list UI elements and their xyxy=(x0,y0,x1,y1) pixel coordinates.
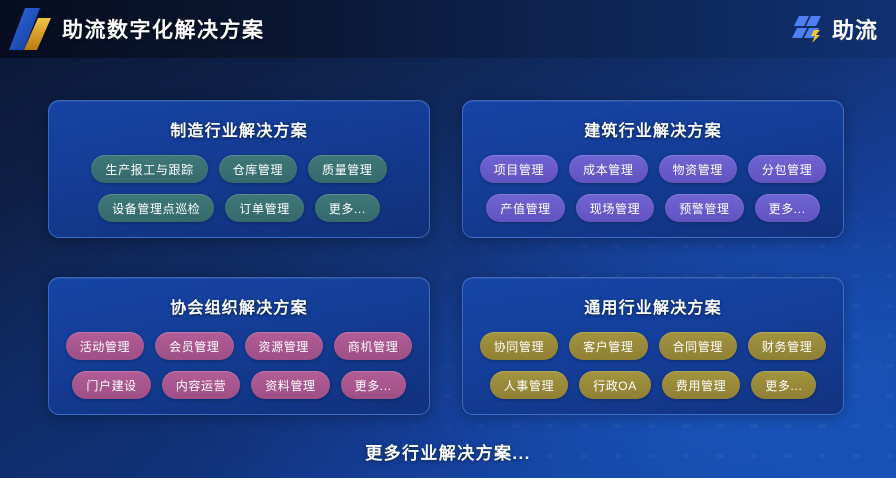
pill-item[interactable]: 会员管理 xyxy=(155,332,233,360)
pill-item[interactable]: 分包管理 xyxy=(748,155,826,183)
page-title: 助流数字化解决方案 xyxy=(62,14,265,44)
card-association[interactable]: 协会组织解决方案 活动管理 会员管理 资源管理 商机管理 门户建设 内容运营 资… xyxy=(48,277,430,415)
pill-group: 活动管理 会员管理 资源管理 商机管理 门户建设 内容运营 资料管理 更多... xyxy=(49,332,429,399)
pill-item[interactable]: 设备管理点巡检 xyxy=(98,194,214,222)
pill-group: 协同管理 客户管理 合同管理 财务管理 人事管理 行政OA 费用管理 更多... xyxy=(463,332,843,399)
pill-item[interactable]: 内容运营 xyxy=(162,371,240,399)
pill-item[interactable]: 财务管理 xyxy=(748,332,826,360)
pill-row: 人事管理 行政OA 费用管理 更多... xyxy=(477,371,829,399)
pill-item[interactable]: 费用管理 xyxy=(662,371,740,399)
pill-row: 生产报工与跟踪 仓库管理 质量管理 xyxy=(63,155,415,183)
pill-row: 项目管理 成本管理 物资管理 分包管理 xyxy=(477,155,829,183)
card-construction[interactable]: 建筑行业解决方案 项目管理 成本管理 物资管理 分包管理 产值管理 现场管理 预… xyxy=(462,100,844,238)
pill-row: 活动管理 会员管理 资源管理 商机管理 xyxy=(63,332,415,360)
pill-item[interactable]: 活动管理 xyxy=(66,332,144,360)
pill-item[interactable]: 成本管理 xyxy=(569,155,647,183)
pill-row: 产值管理 现场管理 预警管理 更多... xyxy=(477,194,829,222)
pill-row: 设备管理点巡检 订单管理 更多... xyxy=(63,194,415,222)
pill-item[interactable]: 行政OA xyxy=(579,371,651,399)
card-title: 协会组织解决方案 xyxy=(49,294,429,318)
pill-item-more[interactable]: 更多... xyxy=(315,194,380,222)
card-title: 建筑行业解决方案 xyxy=(463,117,843,141)
pill-item-more[interactable]: 更多... xyxy=(341,371,406,399)
pill-item[interactable]: 合同管理 xyxy=(659,332,737,360)
pill-item[interactable]: 人事管理 xyxy=(490,371,568,399)
pill-item[interactable]: 协同管理 xyxy=(480,332,558,360)
pill-group: 项目管理 成本管理 物资管理 分包管理 产值管理 现场管理 预警管理 更多... xyxy=(463,155,843,222)
pill-item[interactable]: 订单管理 xyxy=(225,194,303,222)
brand-name: 助流 xyxy=(832,13,878,45)
pill-item[interactable]: 生产报工与跟踪 xyxy=(91,155,207,183)
pill-item[interactable]: 质量管理 xyxy=(308,155,386,183)
card-title: 制造行业解决方案 xyxy=(49,117,429,141)
pill-item[interactable]: 现场管理 xyxy=(576,194,654,222)
pill-item-more[interactable]: 更多... xyxy=(755,194,820,222)
page-header: 助流数字化解决方案 助流 xyxy=(0,0,896,58)
pill-row: 门户建设 内容运营 资料管理 更多... xyxy=(63,371,415,399)
solution-overview-page: 助流数字化解决方案 助流 制造行业解决方案 生产报工与跟踪 仓库管理 质量管理 … xyxy=(0,0,896,478)
zhuliu-bolt-logo-icon xyxy=(791,13,825,45)
pill-item[interactable]: 资料管理 xyxy=(251,371,329,399)
card-general[interactable]: 通用行业解决方案 协同管理 客户管理 合同管理 财务管理 人事管理 行政OA 费… xyxy=(462,277,844,415)
pill-item[interactable]: 客户管理 xyxy=(569,332,647,360)
pill-item[interactable]: 仓库管理 xyxy=(219,155,297,183)
brand-logo[interactable]: 助流 xyxy=(791,0,878,58)
footer-more-solutions: 更多行业解决方案... xyxy=(0,439,896,464)
pill-item-more[interactable]: 更多... xyxy=(751,371,816,399)
pill-row: 协同管理 客户管理 合同管理 财务管理 xyxy=(477,332,829,360)
card-title: 通用行业解决方案 xyxy=(463,294,843,318)
pill-item[interactable]: 预警管理 xyxy=(665,194,743,222)
pill-group: 生产报工与跟踪 仓库管理 质量管理 设备管理点巡检 订单管理 更多... xyxy=(49,155,429,222)
pill-item[interactable]: 产值管理 xyxy=(486,194,564,222)
pill-item[interactable]: 物资管理 xyxy=(659,155,737,183)
pill-item[interactable]: 资源管理 xyxy=(245,332,323,360)
header-slash-logo-icon xyxy=(0,0,58,58)
card-manufacturing[interactable]: 制造行业解决方案 生产报工与跟踪 仓库管理 质量管理 设备管理点巡检 订单管理 … xyxy=(48,100,430,238)
pill-item[interactable]: 项目管理 xyxy=(480,155,558,183)
pill-item[interactable]: 商机管理 xyxy=(334,332,412,360)
pill-item[interactable]: 门户建设 xyxy=(72,371,150,399)
